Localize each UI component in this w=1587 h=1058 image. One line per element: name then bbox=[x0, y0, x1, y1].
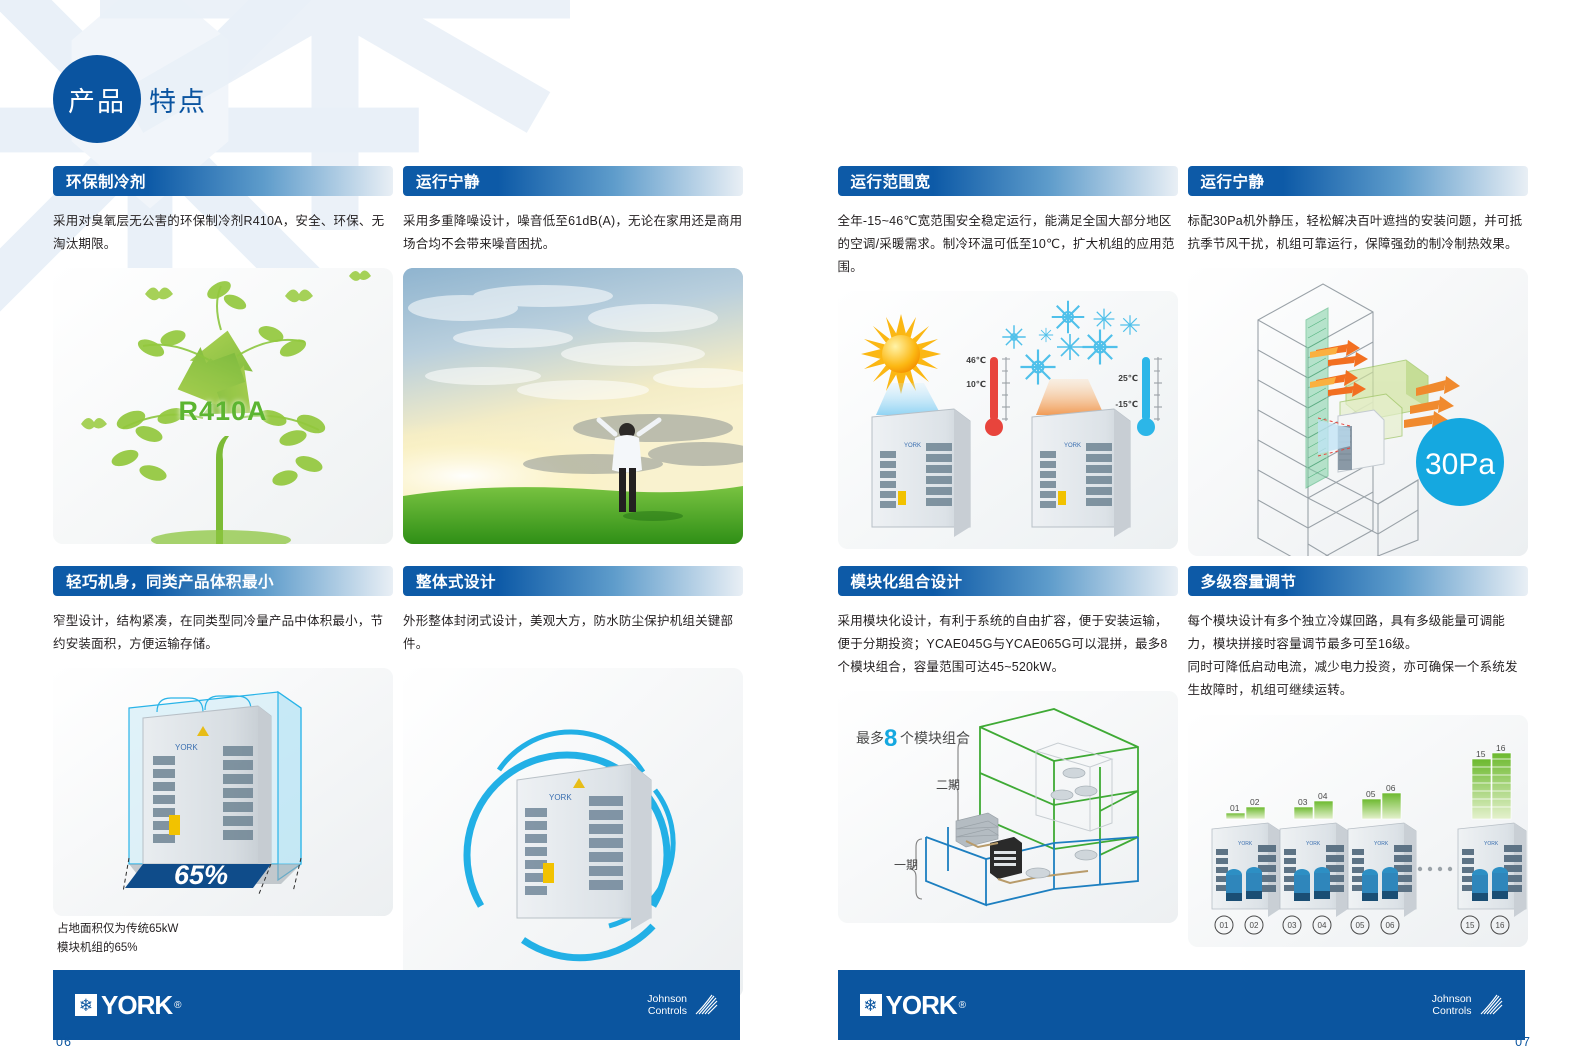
card-title-bar: 模块化组合设计 bbox=[838, 566, 1178, 596]
card-body: 每个模块设计有多个独立冷媒回路，具有多级能量可调能力，模块拼接时容量调节最多可至… bbox=[1188, 610, 1528, 703]
footprint-caption-line2: 模块机组的65% bbox=[57, 939, 393, 957]
jc-line2: Controls bbox=[1432, 1005, 1472, 1017]
card-body: 全年-15~46℃宽范围安全稳定运行，能满足全国大部分地区的空调/采暖需求。制冷… bbox=[838, 210, 1178, 279]
refrigerant-label: R410A bbox=[53, 396, 393, 427]
johnson-controls-logo: Johnson Controls bbox=[647, 992, 718, 1018]
page-number: 06 bbox=[56, 1035, 72, 1049]
modular-phase-one: 一期 bbox=[894, 858, 918, 872]
footprint-illustration: YORK 65% bbox=[53, 668, 393, 916]
card-body: 标配30Pa机外静压，轻松解决百叶遮挡的安装问题，并可抵抗季节风干扰，机组可靠运… bbox=[1188, 210, 1528, 256]
svg-text:15: 15 bbox=[1465, 921, 1474, 930]
card-title: 模块化组合设计 bbox=[838, 570, 963, 592]
card-body: 窄型设计，结构紧凑，在同类型同冷量产品中体积最小，节约安装面积，方便运输存储。 bbox=[53, 610, 393, 656]
sunrise-photo-illustration bbox=[403, 268, 743, 544]
svg-text:05: 05 bbox=[1355, 921, 1364, 930]
modular-headline-prefix: 最多 bbox=[856, 730, 884, 746]
johnson-controls-logo: Johnson Controls bbox=[1432, 992, 1503, 1018]
jc-line1: Johnson bbox=[647, 993, 687, 1005]
feature-card-capacity-stages: 多级容量调节 每个模块设计有多个独立冷媒回路，具有多级能量可调能力，模块拼接时容… bbox=[1188, 566, 1528, 947]
svg-text:04: 04 bbox=[1317, 921, 1326, 930]
modular-illustration: 最多 8 个模块组合 二期 一期 bbox=[838, 691, 1178, 923]
footprint-graphic: YORK 65% bbox=[53, 668, 393, 916]
registered-mark: ® bbox=[959, 1000, 966, 1011]
registered-mark: ® bbox=[174, 1000, 181, 1011]
static-pressure-badge-text: 30Pa bbox=[1424, 448, 1494, 481]
card-title-bar: 运行宁静 bbox=[403, 166, 743, 196]
svg-text:YORK: YORK bbox=[549, 793, 572, 802]
capacity-stages-illustration: 01 02 bbox=[1188, 715, 1528, 947]
footprint-badge-text: 65% bbox=[174, 860, 228, 890]
feature-card-static-pressure: 运行宁静 标配30Pa机外静压，轻松解决百叶遮挡的安装问题，并可抵抗季节风干扰，… bbox=[1188, 166, 1528, 556]
static-pressure-graphic: 30Pa bbox=[1188, 268, 1528, 556]
card-body: 采用对臭氧层无公害的环保制冷剂R410A，安全、环保、无淘汰期限。 bbox=[53, 210, 393, 256]
svg-text:01: 01 bbox=[1219, 921, 1228, 930]
svg-text:YORK: YORK bbox=[1374, 841, 1389, 847]
york-wordmark: YORK bbox=[886, 990, 957, 1021]
feature-card-quiet-left: 运行宁静 采用多重降噪设计，噪音低至61dB(A)，无论在家用还是商用场合均不会… bbox=[403, 166, 743, 544]
card-body: 采用模块化设计，有利于系统的自由扩容，便于安装运输，便于分期投资；YCAE045… bbox=[838, 610, 1178, 679]
right-page: 运行范围宽 全年-15~46℃宽范围安全稳定运行，能满足全国大部分地区的空调/采… bbox=[794, 0, 1587, 1058]
card-title: 环保制冷剂 bbox=[53, 170, 146, 192]
unit-ring-illustration: YORK bbox=[403, 668, 743, 998]
svg-text:01: 01 bbox=[1230, 803, 1240, 813]
card-title: 运行宁静 bbox=[1188, 170, 1265, 192]
svg-text:15: 15 bbox=[1476, 749, 1486, 759]
svg-text:YORK: YORK bbox=[1306, 841, 1321, 847]
modular-headline-number: 8 bbox=[884, 725, 897, 752]
cold-low-label: -15℃ bbox=[1115, 399, 1138, 409]
svg-text:05: 05 bbox=[1366, 789, 1376, 799]
left-page: 产品 特点 环保制冷剂 采用对臭氧层无公害的环保制冷剂R410A，安全、环保、无… bbox=[0, 0, 794, 1058]
page-footer: ❄ YORK ® Johnson Controls bbox=[53, 970, 740, 1040]
temperature-range-illustration: 46℃ 10℃ bbox=[838, 291, 1178, 549]
card-title-bar: 整体式设计 bbox=[403, 566, 743, 596]
svg-text:02: 02 bbox=[1250, 797, 1260, 807]
cold-high-label: 25℃ bbox=[1118, 373, 1138, 383]
temperature-range-graphic: 46℃ 10℃ bbox=[838, 291, 1178, 549]
card-title: 多级容量调节 bbox=[1188, 570, 1297, 592]
page-title-circle: 产品 bbox=[53, 55, 141, 143]
svg-text:04: 04 bbox=[1318, 791, 1328, 801]
snowflake-icon: ❄ bbox=[860, 994, 882, 1016]
unit-ring-graphic: YORK bbox=[403, 668, 743, 998]
static-pressure-illustration: 30Pa bbox=[1188, 268, 1528, 556]
card-title: 运行宁静 bbox=[403, 170, 480, 192]
sunrise-photo-graphic bbox=[403, 268, 743, 544]
svg-text:03: 03 bbox=[1298, 797, 1308, 807]
feature-card-compact: 轻巧机身，同类产品体积最小 窄型设计，结构紧凑，在同类型同冷量产品中体积最小，节… bbox=[53, 566, 393, 957]
modular-graphic: 最多 8 个模块组合 二期 一期 bbox=[838, 691, 1178, 923]
svg-text:03: 03 bbox=[1287, 921, 1296, 930]
snowflake-icon: ❄ bbox=[75, 994, 97, 1016]
recycle-tree-illustration: R410A bbox=[53, 268, 393, 544]
svg-text:YORK: YORK bbox=[175, 743, 198, 752]
card-title: 轻巧机身，同类产品体积最小 bbox=[53, 570, 274, 592]
svg-text:16: 16 bbox=[1496, 743, 1506, 753]
hot-high-label: 46℃ bbox=[966, 355, 986, 365]
capacity-stages-graphic: 01 02 bbox=[1188, 715, 1528, 947]
footprint-caption: 占地面积仅为传统65kW 模块机组的65% bbox=[53, 920, 393, 957]
feature-card-operating-range: 运行范围宽 全年-15~46℃宽范围安全稳定运行，能满足全国大部分地区的空调/采… bbox=[838, 166, 1178, 549]
footprint-caption-line1: 占地面积仅为传统65kW bbox=[57, 920, 393, 938]
york-logo: ❄ YORK ® bbox=[860, 990, 967, 1021]
card-title-bar: 多级容量调节 bbox=[1188, 566, 1528, 596]
svg-text:YORK: YORK bbox=[1064, 443, 1081, 449]
card-body: 采用多重降噪设计，噪音低至61dB(A)，无论在家用还是商用场合均不会带来噪音困… bbox=[403, 210, 743, 256]
brochure-spread: 产品 特点 环保制冷剂 采用对臭氧层无公害的环保制冷剂R410A，安全、环保、无… bbox=[0, 0, 1587, 1058]
svg-text:YORK: YORK bbox=[904, 443, 921, 449]
card-title: 运行范围宽 bbox=[838, 170, 931, 192]
jc-swoosh-icon bbox=[1477, 992, 1503, 1018]
jc-text: Johnson Controls bbox=[647, 993, 687, 1017]
card-title-bar: 运行宁静 bbox=[1188, 166, 1528, 196]
page-title-rest: 特点 bbox=[149, 80, 207, 119]
feature-card-integrated: 整体式设计 外形整体封闭式设计，美观大方，防水防尘保护机组关键部件。 bbox=[403, 566, 743, 998]
jc-text: Johnson Controls bbox=[1432, 993, 1472, 1017]
card-title-bar: 运行范围宽 bbox=[838, 166, 1178, 196]
hot-low-label: 10℃ bbox=[966, 379, 986, 389]
card-title-bar: 环保制冷剂 bbox=[53, 166, 393, 196]
page-title: 产品 特点 bbox=[53, 55, 207, 143]
jc-line1: Johnson bbox=[1432, 993, 1472, 1005]
svg-text:02: 02 bbox=[1249, 921, 1258, 930]
jc-swoosh-icon bbox=[692, 992, 718, 1018]
card-body: 外形整体封闭式设计，美观大方，防水防尘保护机组关键部件。 bbox=[403, 610, 743, 656]
svg-text:06: 06 bbox=[1385, 921, 1394, 930]
svg-text:06: 06 bbox=[1386, 783, 1396, 793]
svg-text:16: 16 bbox=[1495, 921, 1504, 930]
svg-text:YORK: YORK bbox=[1238, 841, 1253, 847]
feature-card-modular: 模块化组合设计 采用模块化设计，有利于系统的自由扩容，便于安装运输，便于分期投资… bbox=[838, 566, 1178, 923]
feature-card-refrigerant: 环保制冷剂 采用对臭氧层无公害的环保制冷剂R410A，安全、环保、无淘汰期限。 bbox=[53, 166, 393, 544]
card-title-bar: 轻巧机身，同类产品体积最小 bbox=[53, 566, 393, 596]
york-wordmark: YORK bbox=[101, 990, 172, 1021]
page-footer: ❄ YORK ® Johnson Controls bbox=[838, 970, 1525, 1040]
card-title: 整体式设计 bbox=[403, 570, 496, 592]
jc-line2: Controls bbox=[647, 1005, 687, 1017]
york-logo: ❄ YORK ® bbox=[75, 990, 182, 1021]
svg-text:YORK: YORK bbox=[1484, 841, 1499, 847]
page-number: 07 bbox=[1515, 1035, 1531, 1049]
modular-phase-two: 二期 bbox=[936, 778, 960, 792]
